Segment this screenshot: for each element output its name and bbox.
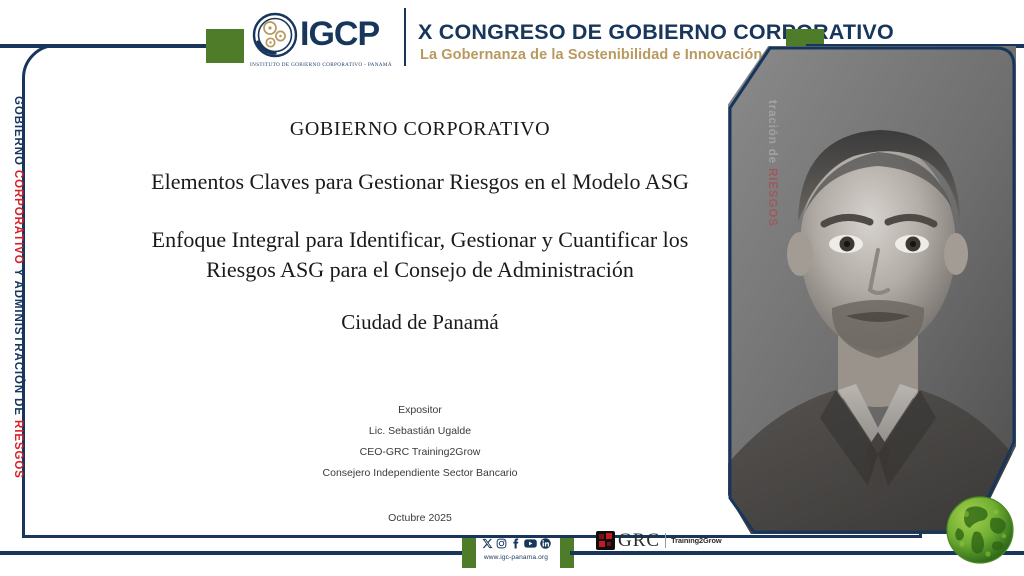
grc-square-3 bbox=[599, 541, 605, 547]
location: Ciudad de Panamá bbox=[110, 310, 730, 335]
igcp-logo: IGCP INSTITUTO DE GOBIERNO CORPORATIVO -… bbox=[248, 8, 394, 74]
grc-square-4 bbox=[607, 542, 611, 546]
igcp-acronym: IGCP bbox=[300, 14, 379, 54]
presentation-subtitle-line-2: Riesgos ASG para el Consejo de Administr… bbox=[110, 255, 730, 285]
speaker-block: Expositor Lic. Sebastián Ugalde CEO-GRC … bbox=[190, 400, 650, 484]
vertical-section-title: GOBIERNO CORPORATIVO Y ADMINISTRACIÓN DE… bbox=[12, 96, 24, 486]
speaker-role-label: Expositor bbox=[190, 400, 650, 421]
presentation-subtitle: Enfoque Integral para Identificar, Gesti… bbox=[110, 225, 730, 284]
side-title-part2: CORPORATIVO bbox=[12, 170, 24, 265]
speaker-position: CEO-GRC Training2Grow bbox=[190, 442, 650, 463]
header-rule-left bbox=[0, 44, 218, 48]
gears-circle-icon bbox=[252, 12, 298, 58]
igcp-institute-name: INSTITUTO DE GOBIERNO CORPORATIVO - PANA… bbox=[248, 62, 394, 68]
linkedin-icon[interactable] bbox=[540, 536, 551, 554]
watermark-part1: tración de bbox=[766, 100, 778, 168]
portrait-watermark: tración de RIESGOS bbox=[766, 100, 778, 380]
header-divider bbox=[404, 8, 406, 66]
header-green-square-left bbox=[206, 29, 244, 63]
speaker-affiliation: Consejero Independiente Sector Bancario bbox=[190, 463, 650, 484]
website-url[interactable]: www.igc-panama.org bbox=[466, 554, 566, 561]
side-title-part4: RIESGOS bbox=[12, 420, 24, 479]
speaker-name: Lic. Sebastián Ugalde bbox=[190, 421, 650, 442]
grc-square-2 bbox=[606, 533, 612, 539]
side-title-part1: GOBIERNO bbox=[12, 96, 24, 170]
green-globe-icon bbox=[944, 494, 1016, 566]
grc-tagline: Training2Grow bbox=[671, 536, 721, 545]
grc-squares-icon bbox=[596, 531, 615, 550]
topic-label: GOBIERNO CORPORATIVO bbox=[110, 118, 730, 141]
facebook-icon[interactable] bbox=[510, 536, 521, 554]
grc-wordmark: GRC bbox=[618, 531, 660, 550]
title-block: GOBIERNO CORPORATIVO Elementos Claves pa… bbox=[110, 118, 730, 335]
instagram-icon[interactable] bbox=[496, 536, 507, 554]
social-links: www.igc-panama.org bbox=[466, 538, 566, 561]
presentation-subtitle-line-1: Enfoque Integral para Identificar, Gesti… bbox=[110, 225, 730, 255]
presentation-title: Elementos Claves para Gestionar Riesgos … bbox=[110, 169, 730, 195]
grc-square-1 bbox=[599, 534, 604, 539]
youtube-icon[interactable] bbox=[524, 536, 537, 554]
presentation-date: Octubre 2025 bbox=[190, 512, 650, 524]
footer-rule-left bbox=[0, 551, 470, 555]
watermark-part2: RIESGOS bbox=[766, 168, 778, 227]
speaker-portrait: tración de RIESGOS bbox=[728, 46, 1016, 534]
presentation-slide: IGCP INSTITUTO DE GOBIERNO CORPORATIVO -… bbox=[0, 0, 1024, 576]
side-title-part3: Y ADMINISTRACIÓN DE bbox=[12, 265, 24, 420]
grc-training2grow-logo: GRC Training2Grow bbox=[596, 529, 722, 551]
x-twitter-icon[interactable] bbox=[482, 536, 493, 554]
grc-divider bbox=[665, 533, 666, 548]
